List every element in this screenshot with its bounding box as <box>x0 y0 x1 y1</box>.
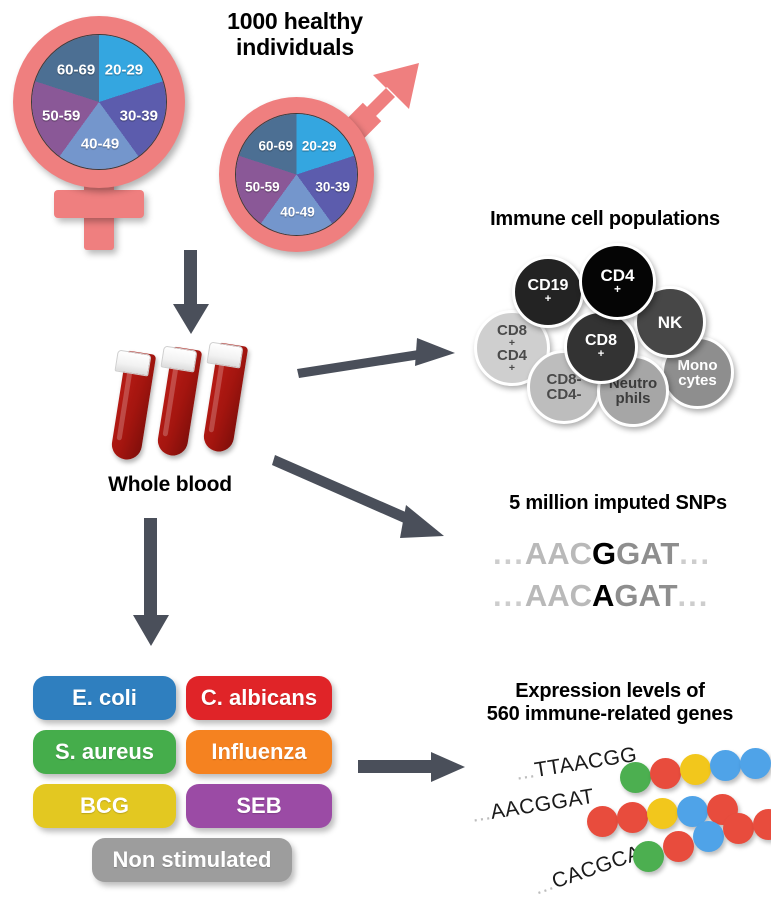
cell-superscript: + <box>497 363 527 374</box>
age-group-label: 40-49 <box>81 135 119 152</box>
expression-bead <box>587 806 618 837</box>
rna-strand-3: ...CACGCAA <box>545 845 771 905</box>
cell-label-line: CD19+ <box>528 278 569 305</box>
arrow-individuals-to-blood <box>168 250 214 341</box>
cell-label-line: CD4+ <box>600 267 634 296</box>
arrow-stimuli-to-expression <box>358 748 468 793</box>
snp-dots-left: ... <box>493 578 525 613</box>
cell-label-line: cytes <box>678 373 718 388</box>
age-group-label: 20-29 <box>105 61 143 78</box>
female-symbol: 20-2930-3940-4950-5960-69 <box>8 12 198 242</box>
cell-label-line: Mono <box>678 358 718 373</box>
snp-suffix: GAT <box>614 578 677 613</box>
diagram-canvas: 1000 healthy individuals 20-2930-3940-49… <box>0 0 771 922</box>
cell-label-line: NK <box>658 314 683 331</box>
tube-highlight <box>163 363 180 437</box>
expression-bead <box>620 762 651 793</box>
stimulus-e-coli[interactable]: E. coli <box>33 676 176 720</box>
strand-sequence: ...AACGGAT <box>470 785 596 828</box>
expression-bead <box>740 748 771 779</box>
immune-title: Immune cell populations <box>450 208 760 231</box>
age-group-label: 60-69 <box>259 138 294 153</box>
expression-bead <box>663 831 694 862</box>
age-group-label: 30-39 <box>120 107 158 124</box>
age-group-label: 40-49 <box>280 205 315 220</box>
male-age-pie: 20-2930-3940-4950-5960-69 <box>235 113 358 236</box>
age-group-label: 60-69 <box>57 61 95 78</box>
tube-cap <box>160 345 197 372</box>
snp-title: 5 million imputed SNPs <box>468 492 768 515</box>
expression-bead <box>617 802 648 833</box>
right-arrow-icon <box>295 325 460 385</box>
diagonal-arrow-icon <box>272 443 457 548</box>
blood-tubes <box>110 340 290 470</box>
expression-title-line2: 560 immune-related genes <box>455 703 765 726</box>
snp-prefix: AAC <box>525 578 592 613</box>
immune-cell-cd4p: CD4+ <box>579 243 656 320</box>
snp-dots-right: ... <box>678 578 710 613</box>
tube-cap <box>114 349 151 376</box>
cell-superscript: + <box>585 349 617 360</box>
cell-superscript: + <box>600 284 634 296</box>
stimulus-non-stimulated[interactable]: Non stimulated <box>92 838 292 882</box>
expression-bead <box>650 758 681 789</box>
age-group-label: 30-39 <box>315 179 350 194</box>
immune-cell-cd19p: CD19+ <box>512 256 584 328</box>
snp-prefix: AAC <box>525 536 592 571</box>
expression-bead <box>680 754 711 785</box>
stimulus-influenza[interactable]: Influenza <box>186 730 332 774</box>
snp-variant: G <box>592 536 616 571</box>
cell-label-line: CD8+ <box>585 333 617 360</box>
right-arrow-icon <box>358 748 468 788</box>
female-age-pie: 20-2930-3940-4950-5960-69 <box>31 34 167 170</box>
whole-blood-label: Whole blood <box>85 473 255 497</box>
cell-label-line: phils <box>609 391 657 406</box>
cell-label-line: CD4+ <box>497 348 527 374</box>
snp-suffix: GAT <box>616 536 679 571</box>
arrow-blood-to-immune-cells <box>295 325 460 390</box>
snp-sequence-row: ...AACGGAT... <box>493 536 711 572</box>
arrow-blood-to-snp <box>272 443 457 553</box>
male-symbol: 20-2930-3940-4950-5960-69 <box>205 45 425 250</box>
strand-seq: AACGGAT <box>489 785 596 824</box>
snp-sequence-row: ...AACAGAT... <box>493 578 709 614</box>
cell-label-line: CD8+ <box>497 323 527 349</box>
snp-dots-right: ... <box>679 536 711 571</box>
stimulus-c-albicans[interactable]: C. albicans <box>186 676 332 720</box>
expression-bead <box>633 841 664 872</box>
expression-bead <box>693 821 724 852</box>
age-group-label: 20-29 <box>302 138 337 153</box>
age-group-label: 50-59 <box>245 179 280 194</box>
expression-bead <box>723 813 754 844</box>
expression-bead <box>710 750 741 781</box>
arrow-blood-to-stimuli <box>128 518 174 653</box>
expression-bead <box>647 798 678 829</box>
down-arrow-icon <box>168 250 214 336</box>
tube-highlight <box>117 367 134 441</box>
down-arrow-icon <box>128 518 174 648</box>
cell-superscript: + <box>528 294 569 305</box>
tube-highlight <box>209 359 226 433</box>
immune-cell-cd8p: CD8+ <box>564 310 638 384</box>
expression-title-line1: Expression levels of <box>455 680 765 703</box>
snp-dots-left: ... <box>493 536 525 571</box>
expression-title: Expression levels of 560 immune-related … <box>455 680 765 726</box>
snp-variant: A <box>592 578 614 613</box>
female-stem-cross <box>54 190 144 218</box>
stimulus-bcg[interactable]: BCG <box>33 784 176 828</box>
tube-cap <box>206 341 243 368</box>
cohort-title-line1: 1000 healthy <box>170 8 420 34</box>
stimulus-s-aureus[interactable]: S. aureus <box>33 730 176 774</box>
cell-label-line: CD4- <box>546 387 581 402</box>
age-group-label: 50-59 <box>42 107 80 124</box>
stimulus-seb[interactable]: SEB <box>186 784 332 828</box>
